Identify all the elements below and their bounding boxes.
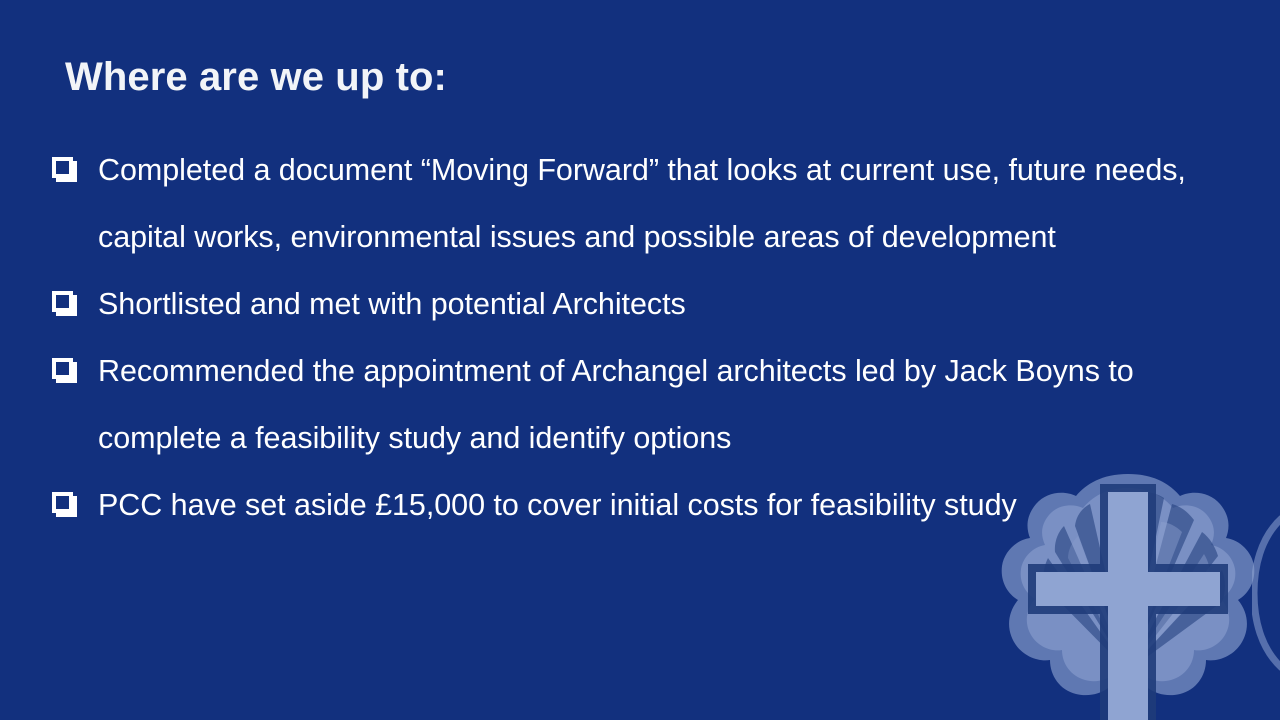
- scallop-shell-cross-logo-edge-fragment: [1252, 508, 1280, 678]
- hollow-square-bullet-icon: [52, 492, 77, 517]
- list-item: Recommended the appointment of Archangel…: [52, 338, 1242, 472]
- hollow-square-bullet-icon: [52, 358, 77, 383]
- list-item: Completed a document “Moving Forward” th…: [52, 137, 1242, 271]
- hollow-square-bullet-icon: [52, 157, 77, 182]
- list-item-text: Shortlisted and met with potential Archi…: [52, 271, 1242, 338]
- list-item-text: PCC have set aside £15,000 to cover init…: [52, 472, 1242, 539]
- list-item: Shortlisted and met with potential Archi…: [52, 271, 1242, 338]
- bullet-list: Completed a document “Moving Forward” th…: [52, 137, 1242, 539]
- list-item-text: Recommended the appointment of Archangel…: [52, 338, 1242, 472]
- page-title: Where are we up to:: [65, 55, 447, 100]
- presentation-slide: Where are we up to: Completed a document…: [0, 0, 1280, 720]
- hollow-square-bullet-icon: [52, 291, 77, 316]
- list-item: PCC have set aside £15,000 to cover init…: [52, 472, 1242, 539]
- list-item-text: Completed a document “Moving Forward” th…: [52, 137, 1242, 271]
